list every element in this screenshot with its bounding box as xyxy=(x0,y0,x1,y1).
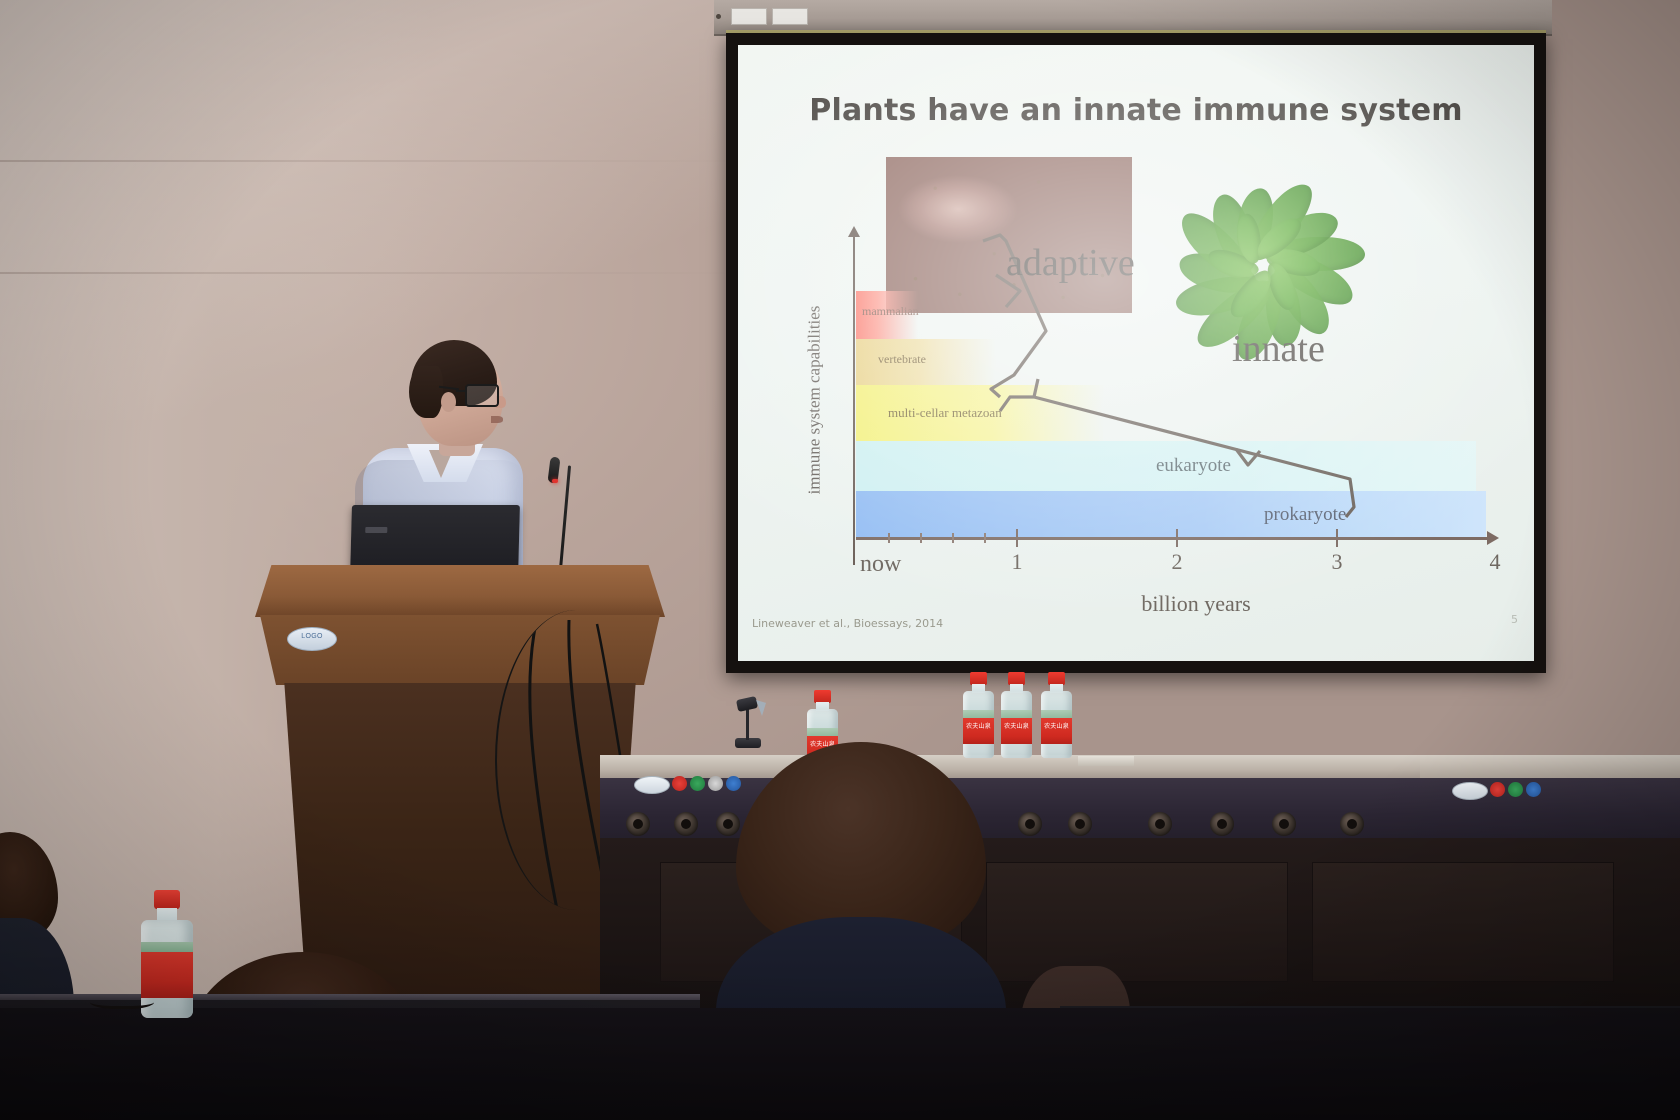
housing-screw xyxy=(716,14,721,19)
presenter-ear xyxy=(441,392,456,412)
desk-bolt xyxy=(674,812,698,836)
podium-emblem: LOGO xyxy=(287,627,337,651)
desk-sticker-blue-right xyxy=(1526,782,1541,797)
x-tick-label-1: 1 xyxy=(1012,549,1023,575)
presenter-hair-back xyxy=(409,366,443,418)
eyeglasses-lens xyxy=(465,384,499,407)
slide-citation: Lineweaver et al., Bioessays, 2014 xyxy=(752,617,943,630)
desk-bolt xyxy=(1018,812,1042,836)
desk-paper xyxy=(1078,756,1134,766)
lecture-hall-photo: Plants have an innate immune system immu… xyxy=(0,0,1680,1120)
bottle-brand-text: 农夫山泉 xyxy=(963,721,994,730)
podium-emblem-text: LOGO xyxy=(288,633,336,640)
bottle-brand-text: 农夫山泉 xyxy=(1041,721,1072,730)
x-tick-minor-3 xyxy=(952,533,954,543)
callout-innate: innate xyxy=(1232,327,1325,371)
x-tick-label-3: 3 xyxy=(1332,549,1343,575)
desk-sticker-red-right xyxy=(1490,782,1505,797)
desk-sticker-oval-right xyxy=(1452,782,1488,800)
desk-microphone-stem xyxy=(746,706,749,740)
band-label-mammalian: mammalian xyxy=(862,304,919,319)
wall-seam-lower xyxy=(0,272,760,274)
x-axis-title: billion years xyxy=(738,591,1534,617)
foreground-shadow xyxy=(0,1008,1680,1120)
evolution-bands: mammalian vertebrate multi-cellar metazo… xyxy=(856,45,1476,661)
housing-label-left xyxy=(731,8,767,25)
laptop-logo xyxy=(365,527,387,533)
desk-panel-3 xyxy=(1312,862,1614,982)
projection-screen: Plants have an innate immune system immu… xyxy=(738,45,1534,661)
x-axis xyxy=(856,537,1488,540)
bottle-label: 农夫山泉 xyxy=(1001,718,1032,744)
x-tick-minor-1 xyxy=(888,533,890,543)
desk-bolt xyxy=(1148,812,1172,836)
presenter-mouth xyxy=(491,416,503,423)
y-axis-label-text: immune system capabilities xyxy=(804,306,824,495)
callout-adaptive: adaptive xyxy=(1006,241,1135,285)
slide-number: 5 xyxy=(1511,613,1518,626)
microphone-led-icon xyxy=(552,479,558,483)
desk-sticker-green xyxy=(690,776,705,791)
band-prokaryote xyxy=(856,491,1486,537)
y-axis-label: immune system capabilities xyxy=(802,235,826,565)
desk-panel-2 xyxy=(986,862,1288,982)
x-tick-2 xyxy=(1176,529,1178,547)
desk-bolt xyxy=(1210,812,1234,836)
band-label-vertebrate: vertebrate xyxy=(878,352,926,367)
projection-screen-frame: Plants have an innate immune system immu… xyxy=(726,33,1546,673)
bottle-label: 农夫山泉 xyxy=(963,718,994,744)
bottle-label: 农夫山泉 xyxy=(1041,718,1072,744)
eyeglasses-bridge xyxy=(456,390,467,392)
band-label-multi-cellar-metazoan: multi-cellar metazoan xyxy=(888,405,1002,421)
housing-label-right xyxy=(772,8,808,25)
x-tick-3 xyxy=(1336,529,1338,547)
x-tick-minor-2 xyxy=(920,533,922,543)
bottle-cap xyxy=(154,890,180,909)
x-tick-label-4: 4 xyxy=(1490,549,1501,575)
x-tick-label-2: 2 xyxy=(1172,549,1183,575)
podium-surface xyxy=(255,565,665,617)
desk-sticker-red xyxy=(672,776,687,791)
x-tick-1 xyxy=(1016,529,1018,547)
x-origin-label: now xyxy=(860,551,901,578)
band-vertebrate xyxy=(856,339,996,385)
desk-sticker-green-right xyxy=(1508,782,1523,797)
water-bottle[interactable]: 农夫山泉 xyxy=(1040,672,1073,758)
band-label-eukaryote: eukaryote xyxy=(1156,455,1231,477)
desk-bolt xyxy=(1340,812,1364,836)
bottle-brand-text: 农夫山泉 xyxy=(1001,721,1032,730)
desk-bolt xyxy=(626,812,650,836)
band-label-prokaryote: prokaryote xyxy=(1264,504,1346,526)
presentation-slide: Plants have an innate immune system immu… xyxy=(738,45,1534,661)
x-tick-minor-4 xyxy=(984,533,986,543)
desk-sticker-oval xyxy=(634,776,670,794)
y-axis-arrow xyxy=(853,235,855,565)
wall-seam-upper xyxy=(0,160,760,162)
desk-bolt xyxy=(1272,812,1296,836)
foreground-cable xyxy=(90,992,154,1009)
desk-bolt xyxy=(1068,812,1092,836)
